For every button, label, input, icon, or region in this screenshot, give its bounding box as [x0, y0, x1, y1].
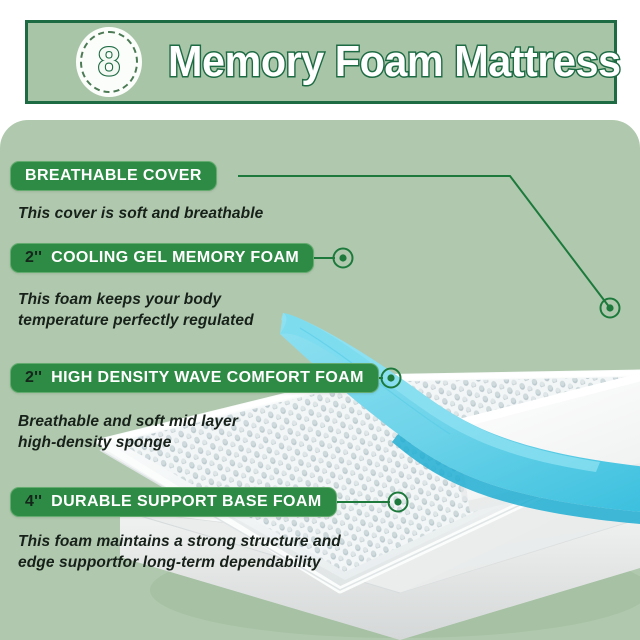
layer-description-breathable-cover: This cover is soft and breathable: [18, 204, 263, 225]
layer-label-breathable-cover[interactable]: BREATHABLE COVER: [10, 161, 217, 191]
step-number-badge: 8: [76, 27, 142, 97]
layer-size-base-foam: 4'': [25, 493, 42, 511]
infographic-root: 8 Memory Foam Mattress: [0, 0, 640, 640]
layer-title-base-foam: DURABLE SUPPORT BASE FOAM: [51, 493, 321, 511]
main-panel: BREATHABLE COVER This cover is soft and …: [0, 120, 640, 640]
layer-label-wave-comfort-foam[interactable]: 2'' HIGH DENSITY WAVE COMFORT FOAM: [10, 363, 379, 393]
badge-number: 8: [98, 42, 120, 82]
layer-label-cooling-gel-foam[interactable]: 2'' COOLING GEL MEMORY FOAM: [10, 243, 314, 273]
layer-title-cooling-gel-foam: COOLING GEL MEMORY FOAM: [51, 249, 299, 267]
breathable-cover-layer: [455, 358, 640, 512]
layer-label-base-foam[interactable]: 4'' DURABLE SUPPORT BASE FOAM: [10, 487, 337, 517]
layer-size-cooling-gel-foam: 2'': [25, 249, 42, 267]
layer-description-base-foam: This foam maintains a strong structure a…: [18, 532, 341, 574]
header-bar: 8 Memory Foam Mattress: [25, 20, 617, 104]
layer-title-wave-comfort-foam: HIGH DENSITY WAVE COMFORT FOAM: [51, 369, 364, 387]
layer-title-breathable-cover: BREATHABLE COVER: [25, 167, 202, 185]
layer-description-wave-comfort-foam: Breathable and soft mid layer high-densi…: [18, 412, 238, 454]
layer-size-wave-comfort-foam: 2'': [25, 369, 42, 387]
layer-description-cooling-gel-foam: This foam keeps your body temperature pe…: [18, 290, 254, 332]
page-title: Memory Foam Mattress: [168, 40, 621, 84]
